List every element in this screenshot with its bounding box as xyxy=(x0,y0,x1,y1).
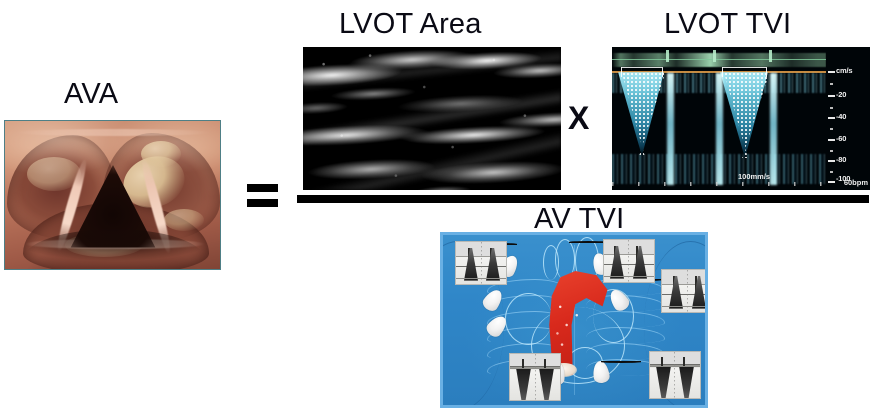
thumbnail-ecg-line xyxy=(650,364,700,365)
lvot-area-echo-image xyxy=(303,47,561,190)
ava-title: AVA xyxy=(64,78,118,111)
thumbnail-ecg-line xyxy=(604,264,654,265)
measurement-caliper[interactable] xyxy=(621,67,622,77)
equation-figure: AVA LVOT Area X LVOT TVI xyxy=(0,0,879,415)
axis-label-unit: cm/s xyxy=(836,66,852,75)
axis-label-value: -60 xyxy=(836,134,846,143)
systolic-flash-artifact xyxy=(667,73,674,185)
systolic-flash-artifact xyxy=(770,73,777,185)
axis-tick xyxy=(828,139,835,141)
doppler-thumbnail-panel[interactable] xyxy=(661,269,708,313)
sweep-speed-label: 100mm/s xyxy=(738,172,770,181)
ecg-qrs-spike xyxy=(769,50,772,62)
measurement-caliper[interactable] xyxy=(766,67,767,77)
lvot-area-title: LVOT Area xyxy=(339,8,482,41)
doppler-thumbnail-panel[interactable] xyxy=(509,353,561,401)
thumbnail-ecg-strip xyxy=(604,240,654,255)
measurement-caliper[interactable] xyxy=(662,67,663,77)
probe-cable xyxy=(569,241,607,243)
lvot-tvi-doppler-image: 100mm/s cm/s -20 -40 -60 -80 -100 60bpm xyxy=(612,47,870,190)
caliper-span xyxy=(621,67,662,68)
systolic-flash-artifact xyxy=(716,73,723,185)
thumbnail-baseline xyxy=(510,368,560,369)
thumbnail-ecg-spike xyxy=(661,357,663,366)
doppler-thumbnail-panel[interactable] xyxy=(649,351,701,399)
multiply-sign: X xyxy=(568,100,590,137)
axis-minor-tick xyxy=(830,128,833,130)
axis-minor-tick xyxy=(830,171,833,173)
axis-label-value: -20 xyxy=(836,90,846,99)
thumbnail-baseline xyxy=(456,278,506,279)
thumbnail-ecg-spike xyxy=(522,359,524,368)
doppler-thumbnail-panel[interactable] xyxy=(603,239,655,283)
doppler-spectral-plot: 100mm/s xyxy=(612,47,826,190)
thumbnail-gridline xyxy=(674,352,675,398)
time-axis-ticks xyxy=(612,182,826,186)
axis-tick xyxy=(828,117,835,119)
axis-minor-tick xyxy=(830,83,833,85)
ecg-qrs-spike xyxy=(713,50,716,62)
axis-tick xyxy=(828,71,835,73)
thumbnail-gridline xyxy=(535,354,536,400)
ecg-baseline xyxy=(612,59,826,60)
lvot-tvi-title: LVOT TVI xyxy=(664,8,791,41)
axis-tick xyxy=(828,160,835,162)
thumbnail-ecg-spike xyxy=(683,357,685,366)
thumbnail-ecg-spike xyxy=(544,359,546,368)
measurement-caliper[interactable] xyxy=(722,67,723,77)
pulmonary-vein-outline xyxy=(505,293,552,345)
axis-minor-tick xyxy=(830,150,833,152)
equals-bar-top xyxy=(247,184,278,192)
doppler-thumbnail-panel[interactable] xyxy=(455,241,507,285)
ecg-qrs-spike xyxy=(666,50,669,62)
equals-bar-bottom xyxy=(247,199,278,207)
thumbnail-baseline xyxy=(650,366,700,367)
velocity-axis: cm/s -20 -40 -60 -80 -100 60bpm xyxy=(826,47,870,190)
echo-speckle-noise xyxy=(303,47,561,190)
axis-minor-tick xyxy=(830,107,833,109)
probe-cable xyxy=(601,361,641,363)
axis-label-value: -80 xyxy=(836,155,846,164)
axis-tick xyxy=(828,181,835,183)
axis-label-value: -40 xyxy=(836,112,846,121)
photo-highlight-sheen xyxy=(5,121,220,269)
axis-tick xyxy=(828,95,835,97)
heart-rate-label: 60bpm xyxy=(844,178,868,187)
caliper-span xyxy=(722,67,766,68)
thumbnail-baseline xyxy=(604,276,654,277)
equals-sign xyxy=(247,184,278,207)
great-vessel-outline xyxy=(543,245,559,280)
aortic-valve-pathology-image xyxy=(4,120,221,270)
ecg-trace-band xyxy=(612,53,826,67)
av-tvi-window-diagram xyxy=(440,232,708,408)
thumbnail-baseline xyxy=(662,306,708,307)
fraction-bar xyxy=(297,195,869,203)
